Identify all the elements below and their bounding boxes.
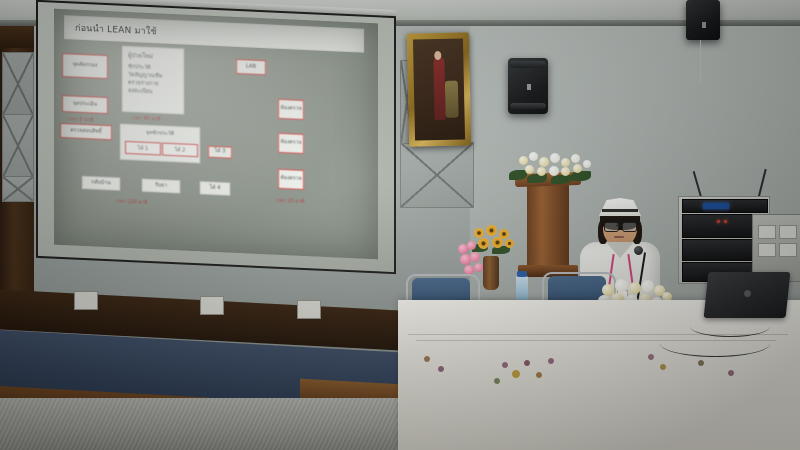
slide-box-assessment: จุดประเมิน <box>62 95 108 114</box>
screen-frame: ก่อนนำ LEAN มาใช้ จุดคัดกรอง จุดประเมิน … <box>36 0 396 274</box>
vent-panel-2 <box>779 225 797 239</box>
bottle-cap <box>517 271 527 277</box>
acoustic-panel <box>400 142 474 208</box>
cable <box>660 330 770 357</box>
embroidery-motif <box>494 378 500 384</box>
podium-flower-arrangement <box>505 148 599 188</box>
slide-box-step-4: ได้ 4 <box>200 181 230 195</box>
nurse-cap-icon <box>596 198 644 216</box>
vent-panel-1 <box>758 225 776 239</box>
royal-portrait-painting <box>407 32 471 146</box>
painting-canvas <box>413 38 465 140</box>
slide-subbox-2: ได้ 2 <box>162 143 198 158</box>
slide-title: ก่อนนำ LEAN มาใช้ <box>64 15 364 53</box>
projected-slide: ก่อนนำ LEAN มาใช้ จุดคัดกรอง จุดประเมิน … <box>54 9 378 260</box>
embroidery-motif <box>438 366 444 372</box>
slide-center-block: ผู้ป่วยใหม่ ซักประวัติ วัดสัญญาณชีพ ตรวจ… <box>122 46 184 115</box>
nurse-glasses-left <box>604 222 619 232</box>
laptop-logo-icon <box>744 290 751 297</box>
acoustic-panel <box>2 114 34 178</box>
embroidery-motif <box>548 358 554 364</box>
wall-socket <box>74 291 98 310</box>
nurse-glasses-bridge <box>616 225 622 226</box>
center-heading: ผู้ป่วยใหม่ <box>128 51 178 62</box>
embroidery-motif <box>660 364 666 370</box>
wall-socket <box>200 296 224 315</box>
wireless-receiver <box>682 199 768 213</box>
painting-figure <box>433 57 445 120</box>
slide-box-lab: LAB <box>236 59 266 75</box>
embroidery-motif <box>536 372 542 378</box>
painting-chair <box>445 81 459 118</box>
embroidery-motif <box>698 360 704 366</box>
embroidery-motif <box>524 360 530 366</box>
embroidery-motif <box>728 370 734 376</box>
slide-box-go-home: กลับบ้าน <box>82 176 120 191</box>
screen-surface: ก่อนนำ LEAN มาใช้ จุดคัดกรอง จุดประเมิน … <box>38 2 394 272</box>
slide-box-exam-2: ห้องตรวจ <box>278 133 304 154</box>
ceiling-speaker-icon <box>686 0 720 40</box>
slide-time-note-2: เวลา 45 นาที <box>132 114 160 123</box>
signal-led <box>724 220 727 223</box>
microphone-icon <box>634 246 643 255</box>
slide-box-receive-medicine: รับยา <box>142 179 180 194</box>
wooden-podium <box>527 180 569 276</box>
receiver-display <box>703 203 729 209</box>
slide-subbox-1: ได้ 1 <box>125 141 161 156</box>
slide-time-note-3: เวลา 120 นาที <box>116 197 147 206</box>
nurse-mouth <box>614 236 624 238</box>
slide-box-exam-3: ห้องตรวจ <box>278 169 304 190</box>
embroidery-motif <box>648 354 654 360</box>
projection-screen: ก่อนนำ LEAN มาใช้ จุดคัดกรอง จุดประเมิน … <box>36 0 396 278</box>
slide-group-history: จุดซักประวัติ ได้ 1 ได้ 2 <box>120 124 200 164</box>
embroidery-motif <box>512 370 520 378</box>
acoustic-panel <box>2 176 34 202</box>
nurse-cap-band <box>602 209 638 212</box>
slide-box-exam-1: ห้องตรวจ <box>278 99 304 120</box>
embroidery-motif <box>424 356 430 362</box>
vent-panel-4 <box>779 243 797 257</box>
vent-panel-3 <box>758 243 776 257</box>
speaker-wire <box>700 40 701 82</box>
power-led <box>717 220 720 223</box>
slide-box-middle-small: ได้ 3 <box>208 146 232 159</box>
wall-speaker-icon <box>508 58 548 114</box>
slide-box-rights-check: ตรวจสอบสิทธิ์ <box>60 123 112 140</box>
slide-box-screening: จุดคัดกรอง <box>62 53 108 79</box>
nurse-glasses-right <box>622 222 637 232</box>
acoustic-panel <box>2 52 34 116</box>
embroidery-motif <box>502 362 508 368</box>
wall-socket <box>297 300 321 319</box>
slide-time-note-4: เวลา 20 นาที <box>276 197 304 206</box>
group-label: จุดซักประวัติ <box>121 128 199 140</box>
wood-trim-top-left <box>0 26 34 48</box>
conference-room-photo: ก่อนนำ LEAN มาใช้ จุดคัดกรอง จุดประเมิน … <box>0 0 800 450</box>
center-line-4: ลงทะเบียน <box>128 87 178 97</box>
